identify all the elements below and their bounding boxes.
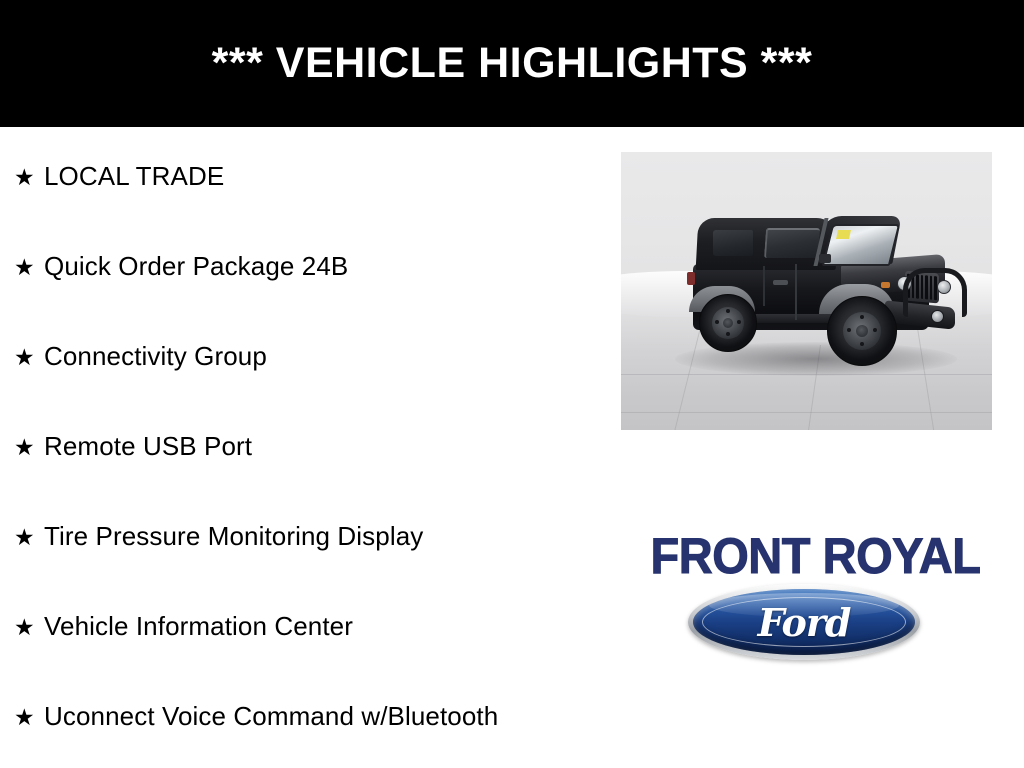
ford-script-text: Ford	[693, 589, 915, 655]
dealer-wordmark: FRONT ROYAL	[651, 528, 980, 586]
star-icon: ★	[14, 436, 44, 459]
list-item: ★ LOCAL TRADE	[14, 163, 224, 189]
lug-nut	[726, 332, 730, 336]
star-icon: ★	[14, 256, 44, 279]
vehicle-windshield	[822, 224, 900, 266]
floor-seam	[621, 412, 992, 413]
highlight-label: Uconnect Voice Command w/Bluetooth	[44, 703, 498, 729]
highlight-label: Connectivity Group	[44, 343, 267, 369]
vehicle-highlights-list: ★ LOCAL TRADE ★ Quick Order Package 24B …	[0, 127, 620, 768]
star-icon: ★	[14, 166, 44, 189]
door-seam	[763, 266, 765, 306]
rear-hub	[723, 318, 733, 328]
highlight-label: Remote USB Port	[44, 433, 252, 459]
list-item: ★ Vehicle Information Center	[14, 613, 353, 639]
taillight	[687, 272, 695, 285]
list-item: ★ Uconnect Voice Command w/Bluetooth	[14, 703, 498, 729]
lug-nut	[715, 320, 719, 324]
window-sticker	[836, 230, 851, 239]
list-item: ★ Tire Pressure Monitoring Display	[14, 523, 423, 549]
list-item: ★ Remote USB Port	[14, 433, 252, 459]
lug-nut	[737, 320, 741, 324]
list-item: ★ Connectivity Group	[14, 343, 267, 369]
ford-oval-logo: Ford	[688, 584, 920, 660]
star-icon: ★	[14, 346, 44, 369]
dealer-logo: FRONT ROYAL Ford	[640, 528, 990, 664]
front-hub	[856, 325, 868, 337]
star-icon: ★	[14, 616, 44, 639]
lug-nut	[726, 309, 730, 313]
ford-oval-field: Ford	[693, 589, 915, 655]
lug-nut	[847, 328, 851, 332]
door-seam	[795, 264, 797, 320]
jeep-wrangler-illustration	[669, 210, 959, 382]
front-wheel	[827, 296, 897, 366]
vehicle-photo	[621, 152, 992, 430]
rear-rim	[712, 307, 744, 339]
fog-light	[931, 310, 944, 323]
highlight-label: Tire Pressure Monitoring Display	[44, 523, 423, 549]
page-title: *** VEHICLE HIGHLIGHTS ***	[0, 0, 1024, 127]
lug-nut	[860, 342, 864, 346]
highlight-label: Quick Order Package 24B	[44, 253, 348, 279]
vehicle-rear-quarter-glass	[713, 230, 753, 256]
lug-nut	[873, 328, 877, 332]
front-rim	[843, 312, 881, 350]
vehicle-door-glass	[764, 228, 820, 258]
star-icon: ★	[14, 526, 44, 549]
list-item: ★ Quick Order Package 24B	[14, 253, 348, 279]
highlight-label: Vehicle Information Center	[44, 613, 353, 639]
door-handle	[773, 280, 788, 285]
header-band: *** VEHICLE HIGHLIGHTS ***	[0, 0, 1024, 127]
star-icon: ★	[14, 706, 44, 729]
turn-signal	[881, 282, 890, 288]
highlight-label: LOCAL TRADE	[44, 163, 224, 189]
lug-nut	[860, 315, 864, 319]
side-mirror	[819, 254, 831, 263]
rear-wheel	[699, 294, 757, 352]
ford-oval-rim: Ford	[688, 584, 920, 660]
